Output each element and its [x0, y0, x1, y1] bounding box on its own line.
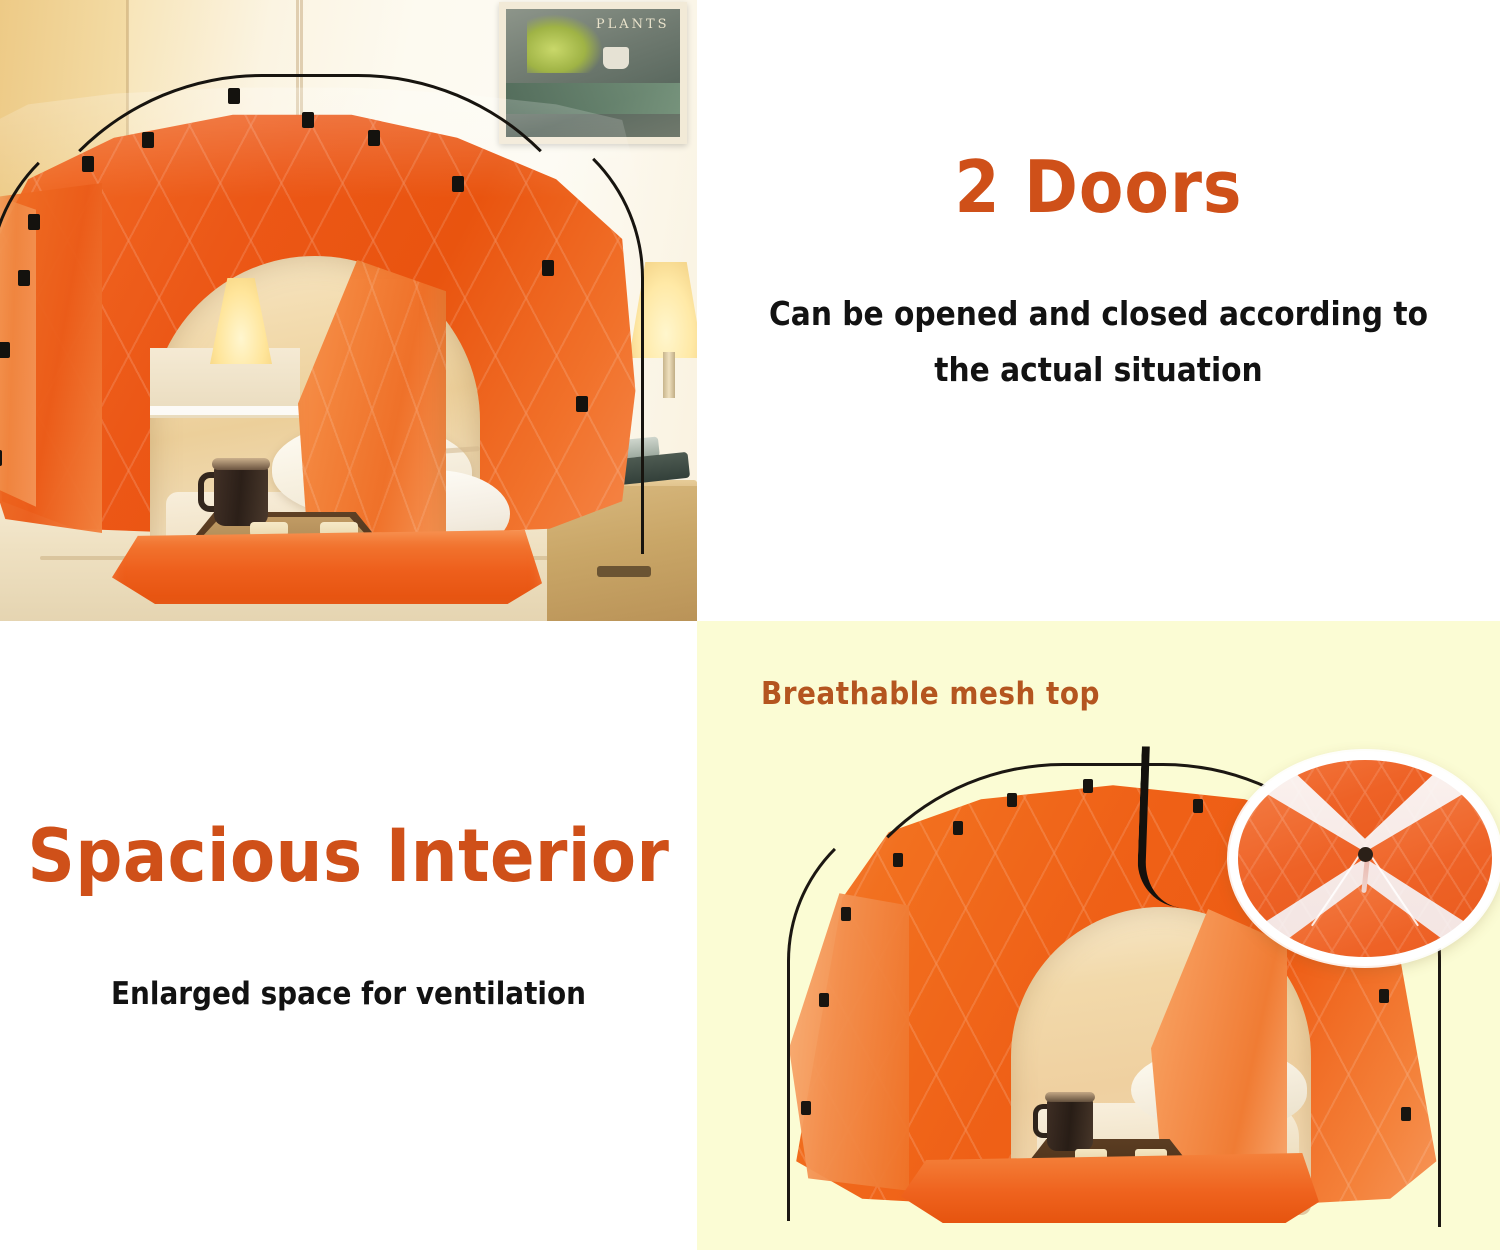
- mesh-top-tent-photo: Breathable mesh top: [697, 621, 1500, 1250]
- second-lamp-stem: [663, 352, 675, 398]
- tent-pole-right: [412, 108, 644, 554]
- roof-hub-clip: [1358, 847, 1373, 862]
- tent-pole-clip: [368, 130, 380, 146]
- two-doors-description-line-1: Can be opened and closed according to: [697, 286, 1500, 343]
- tent-pole-clip: [82, 156, 94, 172]
- tent-pole-clip: [801, 1101, 811, 1115]
- tent-pole-clip: [452, 176, 464, 192]
- bedroom-scene: PLANTS: [0, 0, 697, 621]
- spacious-interior-headline: Spacious Interior: [0, 819, 697, 896]
- tent-pole-clip: [228, 88, 240, 104]
- two-doors-text-panel: 2 Doors Can be opened and closed accordi…: [697, 0, 1500, 621]
- two-doors-description-line-2: the actual situation: [697, 342, 1500, 399]
- tent-pole-clip: [1379, 989, 1389, 1003]
- tent-pole-clip: [1193, 799, 1203, 813]
- tent-pole-clip: [18, 270, 30, 286]
- tent-pole-clip: [841, 907, 851, 921]
- tent-pole-clip: [953, 821, 963, 835]
- two-doors-headline: 2 Doors: [697, 150, 1500, 226]
- teapot-lid: [212, 458, 270, 470]
- poster-title: PLANTS: [596, 17, 670, 32]
- tent-pole-clip: [1401, 1107, 1411, 1121]
- tent-pole-clip: [0, 342, 10, 358]
- tent-pole-clip: [893, 853, 903, 867]
- tent-pole-clip: [142, 132, 154, 148]
- tent-pole-left: [0, 112, 198, 542]
- breathable-mesh-top-label: Breathable mesh top: [761, 676, 1100, 712]
- tent-pole-clip: [1083, 779, 1093, 793]
- nightstand-handle: [597, 566, 651, 577]
- bed-tent: [0, 78, 642, 538]
- tent-pole-clip: [302, 112, 314, 128]
- spacious-interior-description: Enlarged space for ventilation: [0, 968, 697, 1021]
- tent-pole-clip: [542, 260, 554, 276]
- tent-pole-left: [787, 801, 993, 1221]
- mesh-top-closeup-inset: [1229, 751, 1500, 966]
- spacious-interior-text-panel: Spacious Interior Enlarged space for ven…: [0, 624, 697, 1250]
- poster-leaf-graphic: [527, 14, 604, 73]
- product-feature-collage: PLANTS: [0, 0, 1500, 1250]
- tent-pole-clip: [0, 450, 2, 466]
- teapot: [214, 464, 268, 526]
- tent-pole-clip: [1007, 793, 1017, 807]
- tent-pole-clip: [576, 396, 588, 412]
- bedroom-tent-photo: PLANTS: [0, 0, 697, 621]
- tent-pole-clip: [819, 993, 829, 1007]
- poster-cup: [603, 47, 629, 69]
- teapot-lid: [1045, 1092, 1095, 1102]
- tent-hanging-pole: [1136, 746, 1188, 908]
- tent-pole-clip: [28, 214, 40, 230]
- bed-tent-second-view: [783, 757, 1443, 1227]
- teapot: [1047, 1097, 1093, 1151]
